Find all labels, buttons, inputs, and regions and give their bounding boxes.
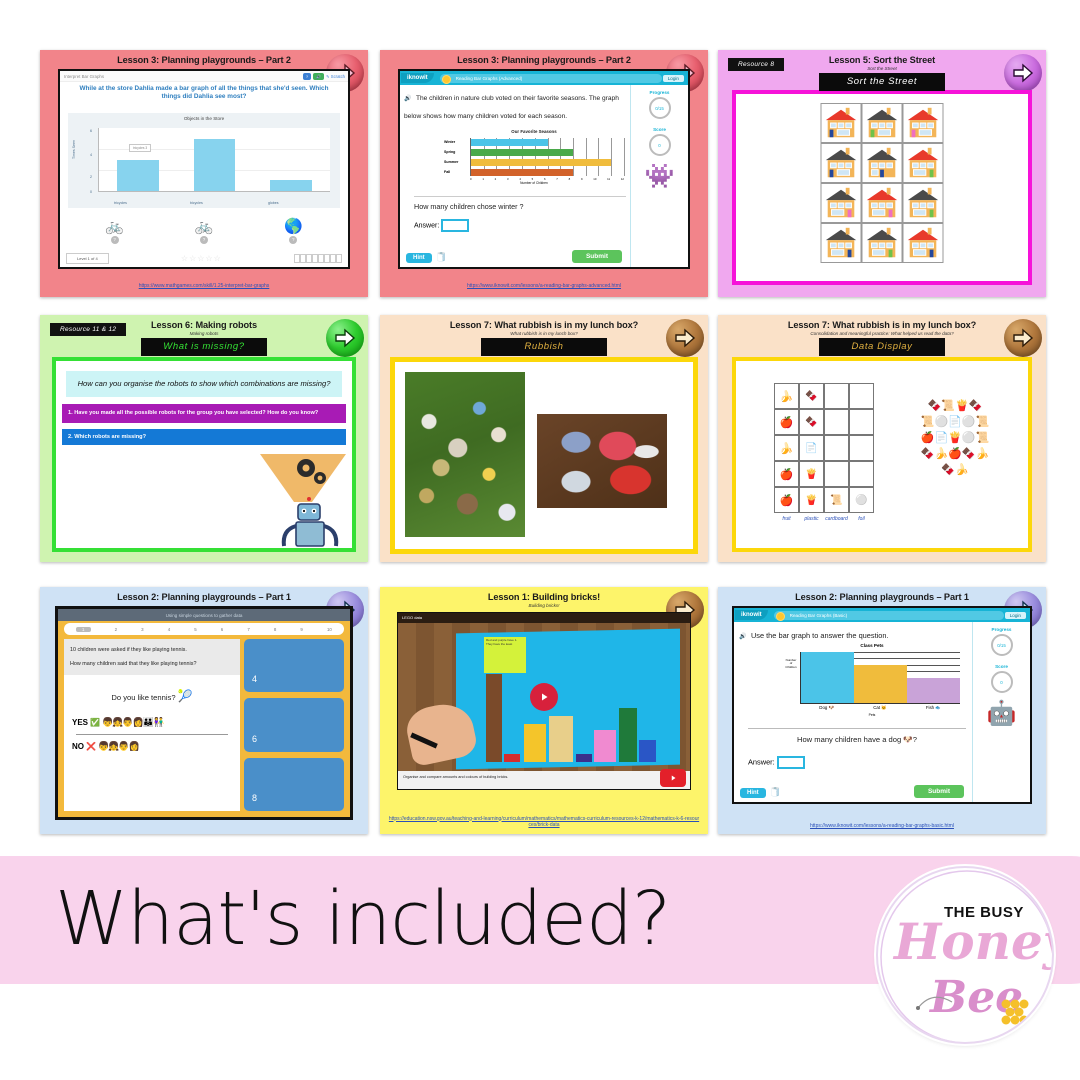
pictograph-cell bbox=[824, 409, 849, 435]
video-title: LEGO data bbox=[398, 613, 690, 623]
y-axis-label: Numberof Children bbox=[784, 659, 798, 669]
window-titlebar: Using simple questions to gather data bbox=[58, 609, 350, 621]
rubbish-cluster: 🍫📜🍟🍫 📜⚪📄⚪📜 🍎📄🍟⚪📜 🍫🍌🍎🍫🍌 🍫🍌 bbox=[900, 399, 1010, 499]
progress-label: Progress bbox=[973, 627, 1030, 632]
pictograph-cell bbox=[824, 461, 849, 487]
pictograph-cell bbox=[849, 435, 874, 461]
prompt-2: 2. Which robots are missing? bbox=[62, 429, 346, 445]
question-text: How many children chose winter ? bbox=[414, 196, 626, 211]
resource-badge: Resource 11 & 12 bbox=[50, 323, 126, 336]
sound-icon[interactable]: 🔊 bbox=[313, 73, 324, 80]
play-icon bbox=[538, 691, 550, 703]
content-frame bbox=[732, 90, 1032, 285]
question-prompt: While at the store Dahlia made a bar gra… bbox=[70, 85, 338, 101]
bar-winter bbox=[471, 139, 548, 146]
next-arrow-button[interactable] bbox=[666, 319, 704, 357]
bar-globes bbox=[270, 180, 312, 191]
pictograph-cell bbox=[824, 435, 849, 461]
answer-option-4[interactable]: 4 bbox=[244, 639, 344, 692]
house-grid[interactable] bbox=[821, 103, 944, 263]
page-number-current[interactable]: 1 bbox=[76, 627, 90, 632]
pictograph-cell: 📜 bbox=[824, 487, 849, 513]
score-label: Score bbox=[973, 664, 1030, 669]
house-icon bbox=[863, 144, 902, 182]
page-number[interactable]: 6 bbox=[221, 627, 223, 632]
video-caption: Organise and compare amounts and colours… bbox=[398, 771, 690, 789]
brick-bar-cream bbox=[549, 716, 573, 762]
page-number[interactable]: 9 bbox=[300, 627, 302, 632]
lesson-name-label: Reading Bar Graphs (Advanced) bbox=[456, 76, 523, 81]
answer-label: Answer: bbox=[748, 757, 775, 766]
iknowit-logo: iknowit bbox=[401, 73, 434, 83]
mascot-icon: 🤖 bbox=[973, 699, 1030, 728]
bar-dog bbox=[801, 652, 854, 703]
slide-card-sort-the-street[interactable]: Resource 8 Lesson 5: Sort the Street Sor… bbox=[718, 50, 1046, 297]
card-title: Lesson 7: What rubbish is in my lunch bo… bbox=[380, 320, 708, 330]
pictograph-grid: 🍌 🍫 🍎 🍫 🍌 📄 🍎 🍟 🍎 bbox=[774, 383, 874, 522]
house-icon bbox=[863, 104, 902, 142]
gather-data-screen[interactable]: Using simple questions to gather data 1 … bbox=[55, 606, 353, 820]
slide-card-lesson3-iknowit[interactable]: Lesson 3: Planning playgrounds – Part 2 … bbox=[380, 50, 708, 297]
audio-icon[interactable]: 🔊 bbox=[404, 96, 411, 102]
content-frame bbox=[390, 357, 698, 554]
pictograph-cell: 🍫 bbox=[799, 383, 824, 409]
score-value: 0 bbox=[991, 671, 1013, 693]
house-cell[interactable] bbox=[903, 183, 944, 223]
rubbish-on-grass-photo bbox=[405, 372, 525, 537]
answer-option-8[interactable]: 8 bbox=[244, 758, 344, 811]
main-question: How can you organise the robots to show … bbox=[66, 371, 342, 397]
tick-fall: Fall bbox=[444, 170, 450, 174]
progress-label: Progress bbox=[631, 90, 688, 95]
bar-fall bbox=[471, 169, 573, 176]
bar-cat bbox=[854, 665, 907, 703]
house-icon bbox=[822, 224, 861, 262]
question-prompt: Use the bar graph to answer the question… bbox=[751, 631, 889, 640]
pictograph-cell: 🍎 bbox=[774, 461, 799, 487]
lesson-icon bbox=[776, 612, 785, 621]
window-title: Using simple questions to gather data bbox=[166, 613, 243, 618]
submit-button[interactable]: Submit bbox=[914, 785, 964, 798]
progress-value: 0/15 bbox=[991, 634, 1013, 656]
card-title: Lesson 3: Planning playgrounds – Part 2 bbox=[380, 55, 708, 65]
youtube-button[interactable] bbox=[660, 769, 686, 787]
next-arrow-button[interactable] bbox=[1004, 319, 1042, 357]
prompt-1: 1. Have you made all the possible robots… bbox=[62, 404, 346, 423]
brick-bar-brown bbox=[486, 674, 502, 762]
tennis-player-icon: 🎾 bbox=[178, 689, 193, 703]
slide-card-making-robots[interactable]: Resource 11 & 12 Lesson 6: Making robots… bbox=[40, 315, 368, 562]
house-cell[interactable] bbox=[862, 223, 903, 263]
slide-card-data-display[interactable]: Lesson 7: What rubbish is in my lunch bo… bbox=[718, 315, 1046, 562]
pictograph-cell: 📄 bbox=[799, 435, 824, 461]
section-banner: Sort the Street bbox=[819, 73, 945, 91]
house-cell[interactable] bbox=[903, 143, 944, 183]
mathgames-screen[interactable]: Interpret Bar Graphs ? 🔊 ✎ Scratch While… bbox=[58, 69, 350, 269]
iknowit-advanced-screen[interactable]: iknowit Reading Bar Graphs (Advanced) Lo… bbox=[398, 69, 690, 269]
card-title: Lesson 3: Planning playgrounds – Part 2 bbox=[40, 55, 368, 65]
arrow-right-icon bbox=[333, 326, 357, 350]
y-axis-label: Times Seen bbox=[72, 140, 76, 159]
slide-card-rubbish[interactable]: Lesson 7: What rubbish is in my lunch bo… bbox=[380, 315, 708, 562]
score-value: 0 bbox=[649, 134, 671, 156]
score-label: Score bbox=[631, 127, 688, 132]
question-pane: 10 children were asked if they like play… bbox=[64, 639, 240, 811]
lesson-name-label: Reading Bar Graphs (Basic) bbox=[790, 613, 847, 618]
pictograph-cell: 🍫 bbox=[799, 409, 824, 435]
question-text: How many children have a dog 🐶? bbox=[748, 728, 966, 744]
answer-label: Answer: bbox=[414, 222, 439, 229]
pictograph-cell: 🍌 bbox=[774, 383, 799, 409]
arrow-right-icon bbox=[1011, 61, 1035, 85]
rubbish-in-bin-photo bbox=[537, 414, 667, 508]
arrow-right-icon bbox=[1011, 326, 1035, 350]
brick-bar-yellow bbox=[524, 724, 546, 762]
card-title: Lesson 7: What rubbish is in my lunch bo… bbox=[718, 320, 1046, 330]
section-banner: What is missing? bbox=[141, 338, 267, 356]
yes-label: YES bbox=[72, 718, 88, 727]
tick-spring: Spring bbox=[444, 150, 455, 154]
house-cell[interactable] bbox=[903, 103, 944, 143]
hint-button[interactable]: Hint bbox=[406, 253, 432, 263]
pictograph-cell: 🍌 bbox=[774, 435, 799, 461]
resource-badge: Resource 8 bbox=[728, 58, 784, 71]
page-pagination[interactable]: 1 2 3 4 5 6 7 8 9 10 bbox=[64, 623, 344, 635]
brand-logo: THE BUSY Honey Bee bbox=[876, 866, 1054, 1044]
tick-dog: Dog 🐶 bbox=[800, 705, 853, 711]
youtube-icon bbox=[668, 773, 678, 783]
slide-card-lesson3-mathgames[interactable]: Lesson 3: Planning playgrounds – Part 2 … bbox=[40, 50, 368, 297]
logo-decoration bbox=[878, 868, 1054, 1044]
card-subtitle: What rubbish is in my lunch box? bbox=[380, 331, 708, 336]
iknowit-logo: iknowit bbox=[735, 610, 768, 620]
pictograph-cell bbox=[824, 383, 849, 409]
next-arrow-button[interactable] bbox=[326, 319, 364, 357]
eraser-icon[interactable]: 🧻 bbox=[436, 252, 447, 263]
pictograph-cell bbox=[849, 461, 874, 487]
statement-text: 10 children were asked if they like play… bbox=[70, 647, 234, 653]
iknowit-basic-screen[interactable]: iknowit Reading Bar Graphs (Basic) Login… bbox=[732, 606, 1032, 804]
sticky-note-1: Red and purple have 1. They have the lea… bbox=[484, 637, 526, 673]
category-label: cardboard bbox=[824, 516, 849, 522]
content-frame: How can you organise the robots to show … bbox=[52, 357, 356, 552]
cross-icon: ❌ bbox=[86, 742, 96, 751]
source-url[interactable]: https://education.nsw.gov.au/teaching-an… bbox=[380, 816, 708, 829]
card-subtitle: Consolidation and meaningful practice: W… bbox=[718, 331, 1046, 336]
house-icon bbox=[863, 184, 902, 222]
progress-squares bbox=[294, 254, 342, 263]
bar-tricycles bbox=[117, 160, 159, 192]
page-number[interactable]: 10 bbox=[327, 627, 332, 632]
yes-row: YES ✅ 👦👧👨👩👪👫 bbox=[72, 717, 232, 728]
house-icon bbox=[904, 184, 943, 222]
play-button[interactable] bbox=[530, 683, 558, 711]
house-cell[interactable] bbox=[821, 183, 862, 223]
tick-fish: Fish 🐟 bbox=[907, 705, 960, 711]
chart-title: Our Favorite Seasons bbox=[442, 129, 626, 134]
lesson-icon bbox=[442, 75, 451, 84]
tick-cat: Cat 🐱 bbox=[853, 705, 906, 711]
house-cell[interactable] bbox=[821, 103, 862, 143]
submit-button[interactable]: Submit bbox=[572, 250, 622, 263]
house-cell[interactable] bbox=[821, 143, 862, 183]
progress-sidebar: Progress 0/15 Score 0 👾 bbox=[630, 85, 688, 267]
section-banner: Data Display bbox=[819, 338, 945, 356]
brick-bar-pink bbox=[594, 730, 616, 762]
slide-card-lesson2-iknowit[interactable]: Lesson 2: Planning playgrounds – Part 1 … bbox=[718, 587, 1046, 834]
slide-card-gather-data[interactable]: Lesson 2: Planning playgrounds – Part 1 … bbox=[40, 587, 368, 834]
scratch-tool-button[interactable]: ✎ Scratch bbox=[326, 74, 345, 79]
house-cell[interactable] bbox=[821, 223, 862, 263]
answer-option-6[interactable]: 6 bbox=[244, 698, 344, 751]
section-banner: Rubbish bbox=[481, 338, 607, 356]
pictograph-cell: 🍟 bbox=[799, 461, 824, 487]
house-icon bbox=[904, 144, 943, 182]
brick-bar-green bbox=[619, 708, 637, 762]
answer-option-globe[interactable]: 🌎 ? bbox=[284, 219, 303, 244]
page-number[interactable]: 2 bbox=[115, 627, 117, 632]
answer-option-tricycle[interactable]: 🚲 ? bbox=[195, 219, 214, 244]
yes-faces: 👦👧👨👩👪👫 bbox=[102, 717, 163, 728]
bar-spring bbox=[471, 149, 573, 156]
question-text: How many children said that they like pl… bbox=[70, 661, 234, 667]
answer-input[interactable] bbox=[441, 219, 469, 232]
progress-sidebar: Progress 0/15 Score 0 🤖 bbox=[972, 622, 1030, 802]
brick-bar-chart bbox=[486, 670, 656, 762]
brick-bar-blue bbox=[639, 740, 656, 762]
content-frame: 🍌 🍫 🍎 🍫 🍌 📄 🍎 🍟 🍎 bbox=[732, 357, 1032, 552]
category-label: fruit bbox=[774, 516, 799, 522]
help-icon[interactable]: ? bbox=[303, 73, 311, 80]
tricycle-icon: 🚲 bbox=[195, 219, 214, 234]
bar-tooltip: tricycles 3 bbox=[129, 144, 151, 152]
app-topbar: iknowit Reading Bar Graphs (Basic) Login bbox=[734, 608, 1030, 622]
login-button[interactable]: Login bbox=[662, 74, 685, 83]
hint-button[interactable]: Hint bbox=[740, 788, 766, 798]
house-cell[interactable] bbox=[862, 143, 903, 183]
app-topbar: iknowit Reading Bar Graphs (Advanced) Lo… bbox=[400, 71, 688, 85]
bicycle-icon: 🚲 bbox=[105, 219, 124, 234]
card-title: Lesson 2: Planning playgrounds – Part 1 bbox=[40, 592, 368, 602]
robot-illustration bbox=[254, 452, 350, 548]
mascot-icon: 👾 bbox=[631, 162, 688, 191]
source-url[interactable]: https://www.iknowit.com/lessons/a-readin… bbox=[718, 823, 1046, 829]
poll-question: Do you like tennis? 🎾 bbox=[72, 689, 232, 703]
page-number[interactable]: 5 bbox=[194, 627, 196, 632]
video-player[interactable]: LEGO data Red and purple have 1. They ha… bbox=[397, 612, 691, 790]
pictograph-cell: 🍎 bbox=[774, 409, 799, 435]
answer-options[interactable]: 4 6 8 bbox=[244, 639, 344, 811]
tick-winter: Winter bbox=[444, 140, 455, 144]
answer-option-bicycle[interactable]: 🚲 ? bbox=[105, 219, 124, 244]
bar-summer bbox=[471, 159, 611, 166]
slide-card-building-bricks[interactable]: Lesson 1: Building bricks! Building bric… bbox=[380, 587, 708, 834]
source-url[interactable]: https://www.iknowit.com/lessons/a-readin… bbox=[380, 283, 708, 289]
no-label: NO bbox=[72, 742, 84, 751]
bar-bicycles bbox=[194, 139, 236, 191]
x-axis-label: Number of Children bbox=[442, 181, 626, 185]
page-number[interactable]: 7 bbox=[247, 627, 249, 632]
brick-bar-purple bbox=[576, 754, 592, 762]
house-cell[interactable] bbox=[862, 183, 903, 223]
house-icon bbox=[822, 184, 861, 222]
check-icon: ✅ bbox=[90, 718, 100, 727]
card-title: Lesson 1: Building bricks! bbox=[380, 592, 708, 602]
house-icon bbox=[863, 224, 902, 262]
card-subtitle: Building bricks! bbox=[380, 603, 708, 608]
next-arrow-button[interactable] bbox=[1004, 54, 1042, 92]
x-axis-label: Pets bbox=[784, 713, 960, 717]
bar-fish bbox=[907, 678, 960, 704]
page-number[interactable]: 3 bbox=[141, 627, 143, 632]
question-prompt: The children in nature club voted on the… bbox=[404, 95, 619, 120]
source-url[interactable]: https://www.mathgames.com/skill/1.25-int… bbox=[40, 283, 368, 289]
card-title: Lesson 2: Planning playgrounds – Part 1 bbox=[718, 592, 1046, 602]
chart-title: Objects in the Store bbox=[68, 113, 340, 121]
pictograph-cell: 🍎 bbox=[774, 487, 799, 513]
globe-icon: 🌎 bbox=[284, 219, 303, 234]
arrow-right-icon bbox=[673, 326, 697, 350]
house-icon bbox=[904, 104, 943, 142]
house-cell[interactable] bbox=[903, 223, 944, 263]
audio-icon[interactable]: 🔊 bbox=[739, 634, 746, 640]
tick-summer: Summer bbox=[444, 160, 458, 164]
star-rating: ☆☆☆☆☆ bbox=[113, 254, 290, 263]
pictograph-cell bbox=[849, 409, 874, 435]
no-row: NO ❌ 👦👧👨👩 bbox=[72, 741, 232, 752]
login-button[interactable]: Login bbox=[1004, 611, 1027, 620]
lesson-name-pill: Reading Bar Graphs (Basic) bbox=[774, 611, 1004, 620]
banner-heading: What's included? bbox=[55, 876, 670, 962]
category-label: plastic bbox=[799, 516, 824, 522]
page-number[interactable]: 8 bbox=[274, 627, 276, 632]
category-label: foil bbox=[849, 516, 874, 522]
app-header-label: Interpret Bar Graphs bbox=[64, 74, 104, 79]
no-faces: 👦👧👨👩 bbox=[98, 741, 139, 752]
lesson-name-pill: Reading Bar Graphs (Advanced) bbox=[440, 74, 662, 83]
level-indicator: Level 1 of 4 bbox=[66, 253, 109, 264]
brick-bar-red bbox=[504, 754, 520, 762]
pictograph-cell bbox=[849, 383, 874, 409]
house-cell[interactable] bbox=[862, 103, 903, 143]
house-icon bbox=[904, 224, 943, 262]
house-icon bbox=[822, 144, 861, 182]
pictograph-cell: 🍟 bbox=[799, 487, 824, 513]
page-number[interactable]: 4 bbox=[168, 627, 170, 632]
answer-input[interactable] bbox=[777, 756, 805, 769]
pictograph-cell: ⚪ bbox=[849, 487, 874, 513]
progress-value: 0/15 bbox=[649, 97, 671, 119]
house-icon bbox=[822, 104, 861, 142]
eraser-icon[interactable]: 🧻 bbox=[770, 787, 781, 798]
chart-title: Class Pets bbox=[784, 643, 960, 648]
slide-thumbnail-grid: Lesson 3: Planning playgrounds – Part 2 … bbox=[0, 0, 1080, 850]
